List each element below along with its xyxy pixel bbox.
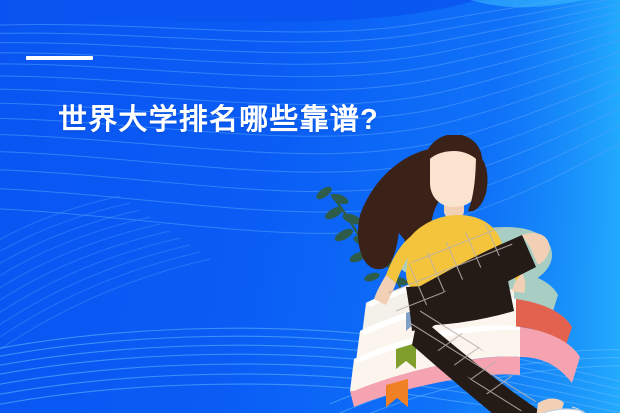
title-divider-line: [26, 56, 93, 60]
banner: 世界大学排名哪些靠谱?: [0, 0, 620, 413]
illustration-woman-on-books: [300, 135, 620, 413]
page-title: 世界大学排名哪些靠谱?: [58, 102, 379, 138]
